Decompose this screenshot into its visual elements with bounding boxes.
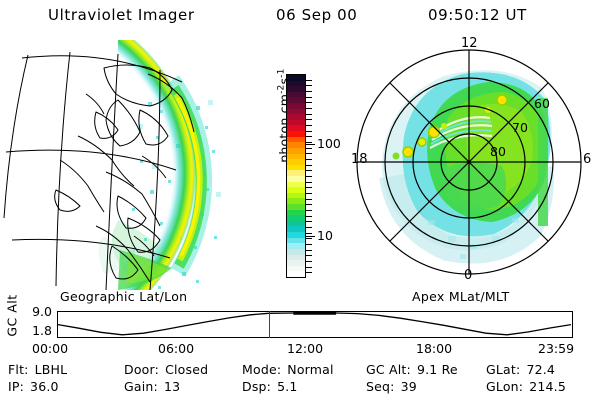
colorbar-label-100: 100 (317, 136, 341, 151)
colorbar-tick-28 (306, 233, 312, 234)
status-value: 9.1 Re (417, 362, 458, 377)
status-value: LBHL (35, 362, 68, 377)
status-label: GLat: (486, 362, 520, 377)
colorbar-tick-1 (306, 80, 312, 81)
colorbar-tick-16 (306, 165, 312, 166)
orbit-altitude-trace (58, 312, 571, 336)
colorbar-tick-7 (306, 114, 312, 115)
status-value: 214.5 (529, 379, 566, 394)
colorbar-tick-14 (306, 153, 312, 154)
status-value: 39 (401, 379, 417, 394)
mlat-label-80: 80 (490, 144, 506, 159)
geographic-image-panel[interactable] (0, 40, 250, 290)
status-label: Dsp: (242, 379, 271, 394)
colorbar-tick-29 (306, 238, 312, 239)
observation-time: 09:50:12 UT (428, 6, 527, 24)
colorbar-tick-27 (306, 227, 312, 228)
colorbar-tick-24 (306, 210, 312, 211)
colorbar-tick-marks (306, 74, 314, 278)
orbit-xtick-3: 18:00 (416, 341, 452, 356)
colorbar-tick-18 (306, 176, 312, 177)
colorbar-tick-30 (306, 244, 312, 245)
status-field-gain: Gain:13 (124, 379, 180, 394)
colorbar-tick-19 (306, 182, 312, 183)
orbit-xtick-4: 23:59 (538, 341, 574, 356)
colorbar-tick-25 (306, 216, 312, 217)
mlt-label-18: 18 (351, 152, 368, 167)
colorbar-tick-5 (306, 102, 312, 103)
colorbar-tick-9 (306, 125, 312, 126)
colorbar-label-10: 10 (317, 228, 333, 243)
status-value: 36.0 (30, 379, 59, 394)
colorbar-tick-15 (306, 159, 312, 160)
status-value: 72.4 (526, 362, 555, 377)
status-value: 5.1 (277, 379, 297, 394)
colorbar-exponent-1: -2 (276, 85, 286, 94)
colorbar-legend: photon cm-2s-1 100 10 (250, 50, 345, 295)
colorbar-tick-35 (306, 272, 312, 273)
status-field-ip: IP:36.0 (8, 379, 59, 394)
status-field-door: Door:Closed (124, 362, 208, 377)
status-label: GLon: (486, 379, 523, 394)
colorbar-tick-32 (306, 255, 312, 256)
status-field-seq: Seq:39 (366, 379, 417, 394)
mlt-label-0: 0 (464, 268, 472, 283)
colorbar-tick-22 (306, 199, 312, 200)
observation-date: 06 Sep 00 (276, 6, 357, 24)
colorbar-tick-8 (306, 119, 312, 120)
orbit-xtick-1: 06:00 (158, 341, 194, 356)
status-label: Mode: (242, 362, 281, 377)
colorbar-tick-20 (306, 187, 312, 188)
status-bar: Flt:LBHLDoor:ClosedMode:NormalGC Alt:9.1… (0, 362, 600, 400)
header-bar: Ultraviolet Imager 06 Sep 00 09:50:12 UT (0, 4, 600, 30)
apex-polar-dial (352, 40, 600, 290)
colorbar-tick-23 (306, 204, 312, 205)
colorbar-exponent-2: -1 (276, 68, 286, 77)
status-label: IP: (8, 379, 24, 394)
mlt-label-6: 6 (583, 152, 591, 167)
orbit-ytick-top: 9.0 (18, 304, 52, 319)
colorbar-tick-17 (306, 170, 312, 171)
colorbar-tick-10 (306, 131, 312, 132)
colorbar-major-tick-1 (306, 236, 315, 237)
colorbar-tick-34 (306, 267, 312, 268)
colorbar-major-tick-0 (306, 144, 315, 145)
status-label: Seq: (366, 379, 395, 394)
polar-grid (357, 50, 581, 274)
colorbar-band-35 (287, 271, 305, 277)
status-value: Closed (165, 362, 208, 377)
instrument-title: Ultraviolet Imager (48, 6, 195, 24)
mlat-label-70: 70 (512, 120, 528, 135)
colorbar-tick-26 (306, 221, 312, 222)
colorbar-tick-31 (306, 250, 312, 251)
colorbar-tick-21 (306, 193, 312, 194)
orbit-altitude-plot[interactable]: GC Alt 9.0 1.8 00:00 06:00 12:00 18:00 2… (0, 300, 600, 358)
status-field-flt: Flt:LBHL (8, 362, 67, 377)
status-value: 13 (164, 379, 180, 394)
colorbar-gradient (286, 74, 306, 278)
status-value: Normal (287, 362, 333, 377)
orbit-xtick-2: 12:00 (287, 341, 323, 356)
status-field-gcalt: GC Alt:9.1 Re (366, 362, 458, 377)
orbit-xtick-0: 00:00 (32, 341, 68, 356)
colorbar-tick-12 (306, 142, 312, 143)
status-field-mode: Mode:Normal (242, 362, 334, 377)
apex-polar-panel[interactable]: 12 18 6 0 60 70 80 (352, 40, 600, 290)
status-label: Gain: (124, 379, 158, 394)
mlat-label-60: 60 (534, 96, 550, 111)
colorbar-tick-13 (306, 148, 312, 149)
colorbar-tick-11 (306, 136, 312, 137)
orbit-ytick-bottom: 1.8 (18, 323, 52, 338)
status-field-dsp: Dsp:5.1 (242, 379, 298, 394)
status-field-glat: GLat:72.4 (486, 362, 555, 377)
status-label: Door: (124, 362, 159, 377)
status-field-glon: GLon:214.5 (486, 379, 566, 394)
mlt-label-12: 12 (461, 36, 478, 51)
colorbar-tick-33 (306, 261, 312, 262)
geographic-limb-image (0, 40, 250, 290)
colorbar-tick-4 (306, 97, 312, 98)
status-label: GC Alt: (366, 362, 411, 377)
orbit-time-cursor[interactable] (269, 311, 270, 338)
status-label: Flt: (8, 362, 29, 377)
colorbar-tick-3 (306, 91, 312, 92)
colorbar-tick-6 (306, 108, 312, 109)
orbit-plot-frame (57, 311, 573, 338)
colorbar-tick-2 (306, 85, 312, 86)
